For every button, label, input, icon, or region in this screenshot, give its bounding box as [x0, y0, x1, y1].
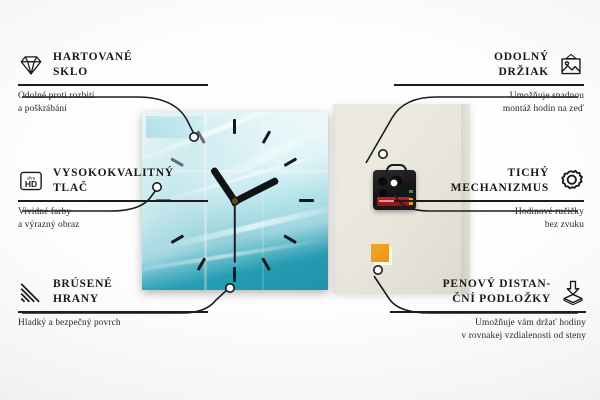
- callout-durable-holder: ODOLNÝ DRŽIAK Umožňuje snadnou montáž ho…: [394, 50, 584, 116]
- brushed-edges-icon: [18, 279, 44, 305]
- callout-silent-mechanism: TICHÝ MECHANIZMUS Hodinové ručičky bez z…: [394, 166, 584, 232]
- callout-title: TICHÝ MECHANIZMUS: [451, 166, 549, 196]
- clock-tick-6: [233, 267, 236, 282]
- callout-description: Hodinové ručičky bez zvuku: [394, 206, 584, 233]
- clock-tick-3: [299, 199, 314, 202]
- callout-title: VYSOKOKVALITNÝ TLAČ: [53, 166, 174, 196]
- svg-text:HD: HD: [25, 179, 37, 189]
- callout-foam-spacers: PENOVÝ DISTAN- ČNÍ PODLOŽKY Umožňuje vám…: [390, 277, 586, 343]
- clock-tick-12: [233, 119, 236, 134]
- callout-description: Hladký a bezpečný povrch: [18, 317, 208, 330]
- infographic-canvas: HARTOVANÉ SKLO Odolné proti rozbití a po…: [0, 0, 600, 400]
- callout-description: Umožňuje vám držať hodiny v rovnakej vzd…: [390, 317, 586, 344]
- callout-brushed-edges: BRÚSENÉ HRANY Hladký a bezpečný povrch: [18, 277, 208, 330]
- callout-title: BRÚSENÉ HRANY: [53, 277, 113, 307]
- callout-tempered-glass: HARTOVANÉ SKLO Odolné proti rozbití a po…: [18, 50, 208, 116]
- mechanism-knob: [378, 177, 387, 186]
- clock-tick-4: [284, 234, 297, 243]
- callout-rule: [390, 311, 586, 312]
- callout-rule: [394, 200, 584, 201]
- wall-mount-frame-icon: [558, 52, 584, 78]
- callout-rule: [18, 311, 208, 312]
- mechanism-knob: [379, 189, 387, 197]
- diamond-icon: [18, 52, 44, 78]
- callout-rule: [394, 84, 584, 85]
- callout-title: ODOLNÝ DRŽIAK: [494, 50, 549, 80]
- callout-title: PENOVÝ DISTAN- ČNÍ PODLOŽKY: [443, 277, 551, 307]
- callout-title: HARTOVANÉ SKLO: [53, 50, 132, 80]
- callout-description: Odolné proti rozbití a poškrábání: [18, 90, 208, 117]
- clock-second-hand: [234, 197, 236, 263]
- foam-spacer-pad-icon: [560, 279, 586, 305]
- ultra-hd-badge-icon: ultra HD: [18, 168, 44, 194]
- callout-description: Umožňuje snadnou montáž hodin na zeď: [394, 90, 584, 117]
- callout-high-quality-print: ultra HD VYSOKOKVALITNÝ TLAČ Vividné far…: [18, 166, 208, 232]
- clock-hands-hub: [232, 198, 238, 204]
- gear-icon: [558, 168, 584, 194]
- foam-spacer-pad: [371, 244, 389, 262]
- callout-rule: [18, 200, 208, 201]
- callout-description: Vividné farby a výrazný obraz: [18, 206, 208, 233]
- callout-rule: [18, 84, 208, 85]
